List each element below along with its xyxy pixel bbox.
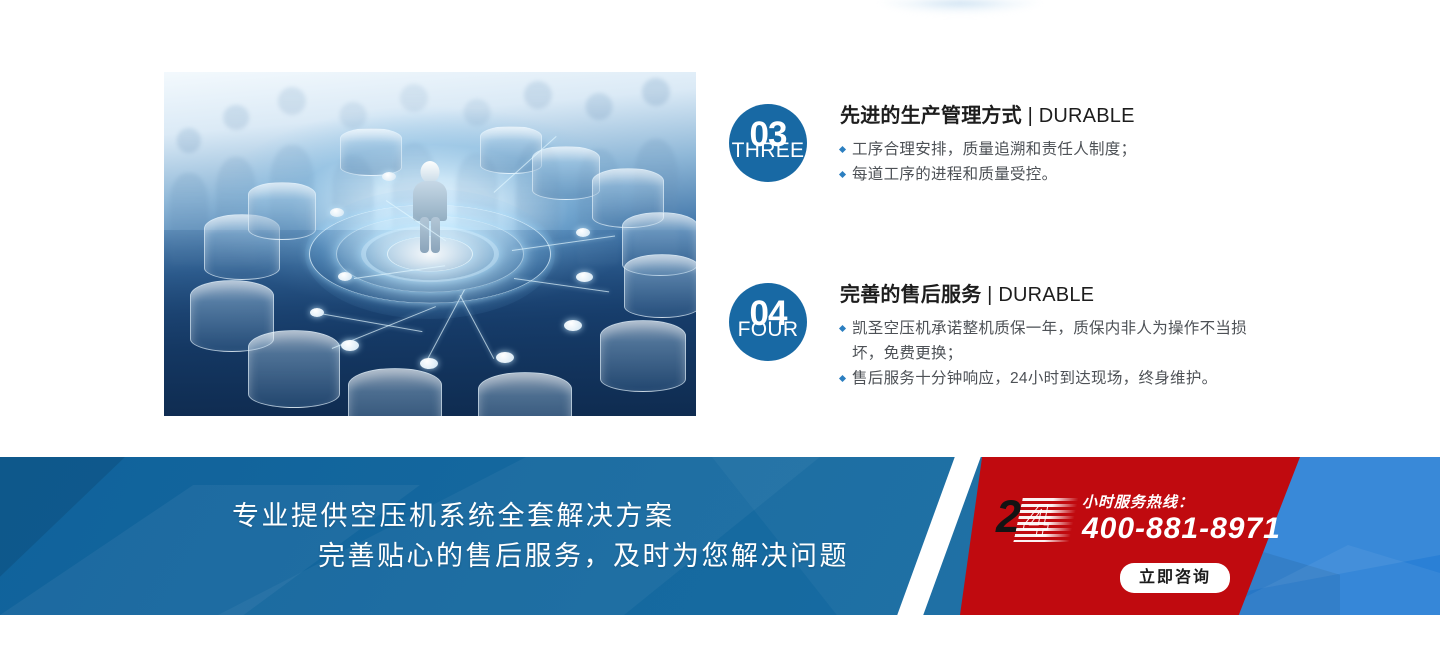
network-node	[496, 352, 514, 363]
feature-bullet: 工序合理安排，质量追溯和责任人制度；	[840, 137, 1136, 162]
node-cylinder	[600, 320, 686, 392]
24-hour-logo: 2 4	[996, 496, 1074, 546]
node-cylinder	[248, 330, 340, 408]
node-cylinder	[478, 372, 572, 416]
feature-title-sep: |	[981, 284, 998, 306]
hotline-hours-digit-4: 4	[1024, 498, 1049, 543]
feature-title-sep: |	[1022, 105, 1039, 127]
feature-block-04: 04 FOUR 完善的售后服务 | DURABLE 凯圣空压机承诺整机质保一年，…	[729, 283, 1252, 391]
feature-title: 完善的售后服务 | DURABLE	[840, 283, 1252, 307]
feature-bullet: 凯圣空压机承诺整机质保一年，质保内非人为操作不当损坏，免费更换；	[840, 316, 1252, 366]
network-node	[341, 340, 359, 351]
badge-word: THREE	[729, 140, 807, 161]
network-node	[564, 320, 582, 331]
node-cylinder	[340, 128, 402, 176]
slogan-line-2: 完善贴心的售后服务，及时为您解决问题	[318, 536, 960, 577]
cta-banner: 专业提供空压机系统全套解决方案 完善贴心的售后服务，及时为您解决问题 2 4 小…	[0, 457, 1440, 615]
network-node	[576, 272, 593, 282]
hotline-row: 2 4 小时服务热线： 400-881-8971	[996, 495, 1281, 546]
slogan-line-1: 专业提供空压机系统全套解决方案	[232, 496, 960, 537]
feature-block-03: 03 THREE 先进的生产管理方式 | DURABLE 工序合理安排，质量追溯…	[729, 104, 1136, 187]
badge-03: 03 THREE	[729, 104, 807, 182]
feature-title: 先进的生产管理方式 | DURABLE	[840, 104, 1136, 128]
consult-now-button[interactable]: 立即咨询	[1120, 563, 1230, 593]
badge-04: 04 FOUR	[729, 283, 807, 361]
feature-title-en: DURABLE	[1039, 105, 1135, 127]
hotline-text: 小时服务热线： 400-881-8971	[1082, 495, 1281, 544]
feature-title-cn: 先进的生产管理方式	[840, 105, 1022, 127]
feature-bullet-list: 工序合理安排，质量追溯和责任人制度； 每道工序的进程和质量受控。	[840, 137, 1136, 187]
badge-word: FOUR	[729, 319, 807, 340]
node-cylinder	[348, 368, 442, 416]
feature-body: 先进的生产管理方式 | DURABLE 工序合理安排，质量追溯和责任人制度； 每…	[840, 104, 1136, 187]
node-cylinder	[624, 254, 696, 318]
feature-bullet: 售后服务十分钟响应，24小时到达现场，终身维护。	[840, 366, 1252, 391]
hotline-block: 2 4 小时服务热线： 400-881-8971 立即咨询	[996, 457, 1306, 615]
network-node	[576, 228, 590, 237]
network-concept-image	[164, 72, 696, 416]
feature-bullet: 每道工序的进程和质量受控。	[840, 162, 1136, 187]
banner-slogan: 专业提供空压机系统全套解决方案 完善贴心的售后服务，及时为您解决问题	[0, 457, 960, 615]
hotline-number[interactable]: 400-881-8971	[1082, 514, 1281, 544]
network-node	[338, 272, 352, 281]
network-node	[310, 308, 324, 317]
feature-title-cn: 完善的售后服务	[840, 284, 981, 306]
network-node	[420, 358, 438, 369]
feature-bullet-list: 凯圣空压机承诺整机质保一年，质保内非人为操作不当损坏，免费更换； 售后服务十分钟…	[840, 316, 1252, 391]
network-node	[382, 172, 396, 181]
features-section: 03 THREE 先进的生产管理方式 | DURABLE 工序合理安排，质量追溯…	[0, 0, 1440, 457]
network-node	[330, 208, 344, 217]
feature-title-en: DURABLE	[998, 284, 1094, 306]
hotline-label: 小时服务热线：	[1082, 495, 1281, 512]
feature-body: 完善的售后服务 | DURABLE 凯圣空压机承诺整机质保一年，质保内非人为操作…	[840, 283, 1252, 391]
